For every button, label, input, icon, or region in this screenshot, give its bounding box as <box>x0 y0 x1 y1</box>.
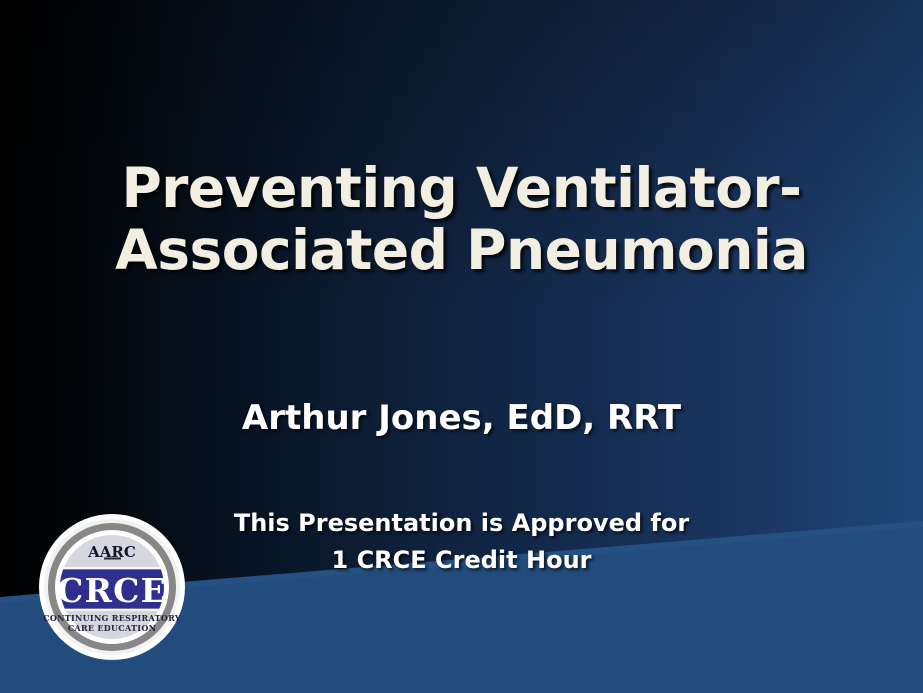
presenter-name: Arthur Jones, EdD, RRT <box>0 398 923 438</box>
aarc-mark: AARC <box>87 543 136 561</box>
presentation-slide: Preventing Ventilator- Associated Pneumo… <box>0 0 923 693</box>
page-title: Preventing Ventilator- Associated Pneumo… <box>0 158 923 281</box>
crce-tagline-line-1: CONTINUING RESPIRATORY <box>43 613 181 623</box>
title-line-1: Preventing Ventilator- <box>121 156 801 220</box>
crce-tagline-line-2: CARE EDUCATION <box>68 623 156 633</box>
title-line-2: Associated Pneumonia <box>115 218 808 282</box>
crce-acronym: CRCE <box>57 571 167 610</box>
crce-seal-logo: AARC CRCE CONTINUING RESPIRATORY CARE ED… <box>38 513 186 661</box>
